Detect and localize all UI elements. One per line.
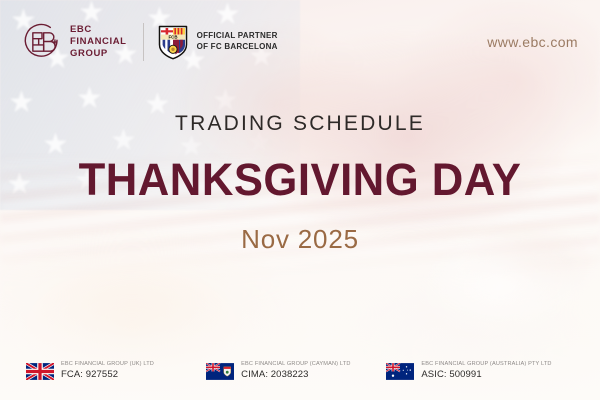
ebc-monogram-icon bbox=[22, 22, 62, 62]
headline-title: THANKSGIVING DAY bbox=[9, 154, 591, 206]
banner-header: EBC FINANCIAL GROUP FCB bbox=[0, 0, 600, 84]
thanksgiving-trading-schedule-banner: ★ ★ ★ ★ ★ ★ ★ ★ ★ ★ ★ ★ ★ ★ ★ ★ ★ ★ bbox=[0, 0, 600, 400]
regulator-company: EBC FINANCIAL GROUP (AUSTRALIA) PTY LTD bbox=[421, 360, 551, 368]
ebc-logo: EBC FINANCIAL GROUP bbox=[22, 22, 127, 62]
ebc-name-line-2: FINANCIAL bbox=[70, 36, 127, 48]
fc-barcelona-partnership: FCB OFFICIAL PARTNER OF FC BARCELONA bbox=[158, 25, 278, 60]
partner-label: OFFICIAL PARTNER OF FC BARCELONA bbox=[197, 31, 278, 53]
partner-line-2: OF FC BARCELONA bbox=[197, 42, 278, 53]
regulator-text: EBC FINANCIAL GROUP (UK) LTD FCA: 927552 bbox=[61, 360, 154, 382]
australia-flag-icon bbox=[386, 363, 414, 380]
ebc-logo-text: EBC FINANCIAL GROUP bbox=[70, 24, 127, 60]
regulator-entry: EBC FINANCIAL GROUP (CAYMAN) LTD CIMA: 2… bbox=[206, 360, 386, 382]
ebc-name-line-3: GROUP bbox=[70, 48, 127, 60]
fc-barcelona-crest-icon: FCB bbox=[158, 25, 188, 60]
website-url[interactable]: www.ebc.com bbox=[487, 34, 578, 50]
ebc-name-line-1: EBC bbox=[70, 24, 127, 36]
date-subtitle: Nov 2025 bbox=[0, 224, 600, 255]
regulator-text: EBC FINANCIAL GROUP (CAYMAN) LTD CIMA: 2… bbox=[241, 360, 350, 382]
header-divider bbox=[143, 23, 144, 61]
regulator-company: EBC FINANCIAL GROUP (CAYMAN) LTD bbox=[241, 360, 350, 368]
regulator-entry: EBC FINANCIAL GROUP (UK) LTD FCA: 927552 bbox=[26, 360, 206, 382]
regulator-license: FCA: 927552 bbox=[61, 368, 154, 382]
kicker-text: TRADING SCHEDULE bbox=[0, 112, 600, 136]
main-content: TRADING SCHEDULE THANKSGIVING DAY Nov 20… bbox=[0, 112, 600, 255]
uk-flag-icon bbox=[26, 363, 54, 380]
svg-text:FCB: FCB bbox=[168, 34, 177, 39]
regulator-license: ASIC: 500991 bbox=[421, 368, 551, 382]
regulatory-footer: EBC FINANCIAL GROUP (UK) LTD FCA: 927552 bbox=[0, 342, 600, 400]
cayman-islands-flag-icon bbox=[206, 363, 234, 380]
partner-line-1: OFFICIAL PARTNER bbox=[197, 31, 278, 42]
regulator-entry: EBC FINANCIAL GROUP (AUSTRALIA) PTY LTD … bbox=[386, 360, 574, 382]
regulator-text: EBC FINANCIAL GROUP (AUSTRALIA) PTY LTD … bbox=[421, 360, 551, 382]
regulator-company: EBC FINANCIAL GROUP (UK) LTD bbox=[61, 360, 154, 368]
regulator-license: CIMA: 2038223 bbox=[241, 368, 350, 382]
